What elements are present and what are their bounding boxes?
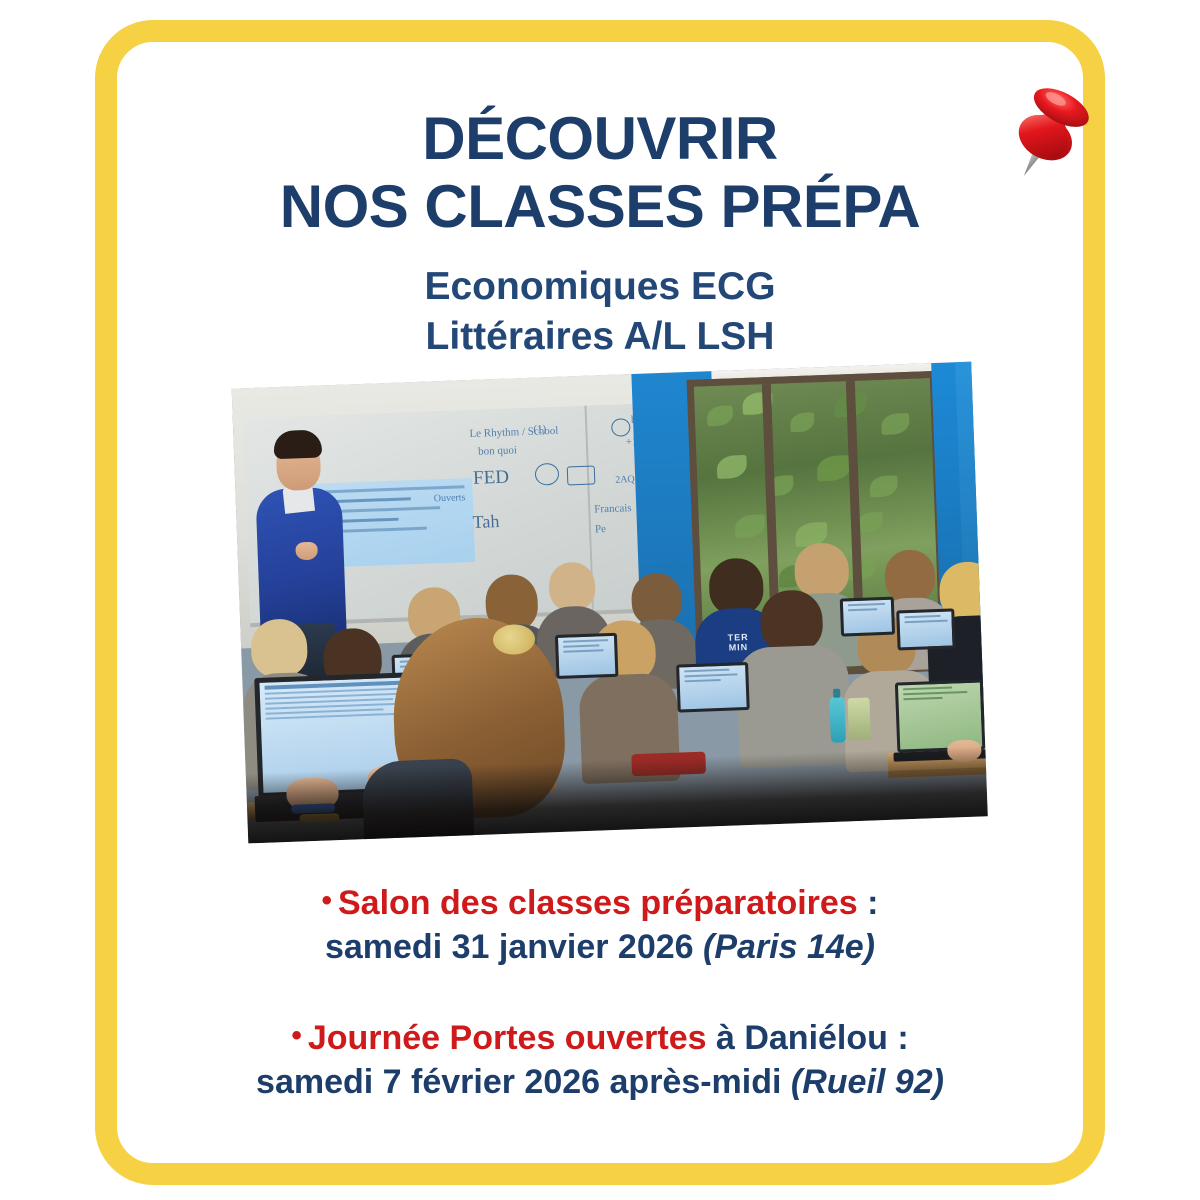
poster-root: DÉCOUVRIR NOS CLASSES PRÉPA Economiques …: [0, 0, 1200, 1200]
bullet-icon: •: [321, 884, 332, 917]
headline-line-2: NOS CLASSES PRÉPA: [95, 173, 1105, 241]
event-item-salon: •Salon des classes préparatoires : samed…: [95, 882, 1105, 969]
laptop: [840, 597, 895, 637]
bullet-icon: •: [291, 1019, 302, 1052]
headline-line-1: DÉCOUVRIR: [95, 105, 1105, 173]
event-date-salon: samedi 31 janvier 2026: [325, 928, 694, 966]
subtitle-line-1: Economiques ECG: [95, 262, 1105, 312]
event-separator-salon: :: [858, 884, 879, 922]
classroom-photo-image: Le Rhythm / School bon quoi FED Tah (1) …: [232, 362, 988, 844]
subtitle-line-2: Littéraires A/L LSH: [95, 312, 1105, 362]
event-suffix-jpo: à Daniélou :: [707, 1019, 909, 1057]
event-place-jpo: (Rueil 92): [791, 1063, 944, 1101]
event-title-jpo: Journée Portes ouvertes: [308, 1019, 707, 1057]
classroom-photo: Le Rhythm / School bon quoi FED Tah (1) …: [232, 362, 989, 859]
hoodie-text-line2: MIN: [729, 642, 749, 653]
event-date-jpo: samedi 7 février 2026 après-midi: [256, 1063, 781, 1101]
event-date-row-salon: samedi 31 janvier 2026 (Paris 14e): [95, 926, 1105, 970]
laptop: [676, 662, 750, 713]
event-place-salon: (Paris 14e): [703, 928, 875, 966]
laptop: [896, 608, 955, 650]
laptop: [555, 633, 619, 679]
event-title-salon: Salon des classes préparatoires: [338, 884, 858, 922]
water-bottle: [829, 696, 846, 743]
event-date-row-jpo: samedi 7 février 2026 après-midi (Rueil …: [95, 1061, 1105, 1105]
subtitle: Economiques ECG Littéraires A/L LSH: [95, 262, 1105, 361]
poster-content: DÉCOUVRIR NOS CLASSES PRÉPA Economiques …: [95, 20, 1105, 1185]
event-item-jpo: •Journée Portes ouvertes à Daniélou : sa…: [95, 1017, 1105, 1104]
events-list: •Salon des classes préparatoires : samed…: [95, 882, 1105, 1104]
page-title: DÉCOUVRIR NOS CLASSES PRÉPA: [95, 105, 1105, 241]
